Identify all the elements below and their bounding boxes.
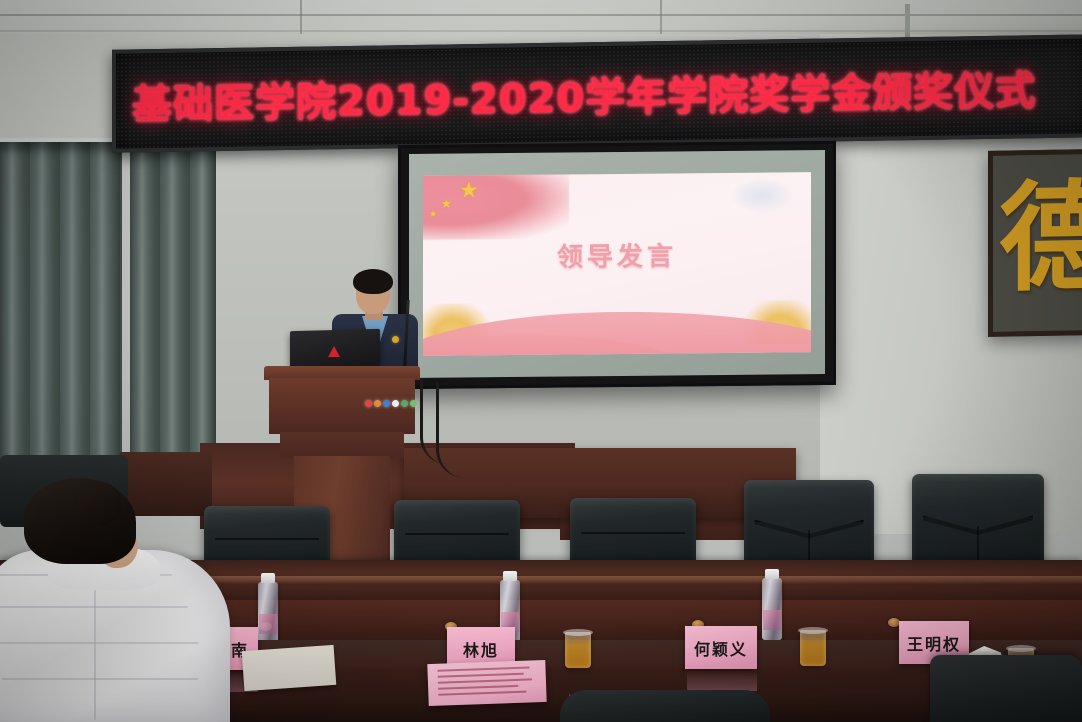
tea-glass-1 (565, 632, 591, 668)
projection-screen: ★ ★ ★ 领导发言 (398, 141, 836, 389)
bottle-label (763, 610, 781, 630)
chair-3 (570, 498, 696, 564)
calligraphy-plaque: 德 (988, 149, 1082, 337)
podium-midsection (280, 432, 404, 458)
led-banner: 基础医学院2019-2020学年学院奖学金颁奖仪式 (112, 34, 1082, 152)
glass-rim (1006, 645, 1036, 652)
foreground-person (0, 478, 230, 722)
bottle-cap (503, 571, 517, 581)
tea-glass-2 (800, 630, 826, 666)
foreground-chair-right (930, 655, 1082, 722)
bottle-cap (765, 569, 779, 579)
water-bottle-1 (258, 582, 278, 644)
placard-reflection (687, 669, 757, 691)
presentation-slide: ★ ★ ★ 领导发言 (423, 172, 811, 356)
podium-button-blue[interactable] (383, 400, 390, 407)
water-bottle-3 (762, 578, 782, 640)
slide-title: 领导发言 (423, 235, 811, 276)
bottle-label (259, 614, 277, 634)
star-icon: ★ (429, 210, 437, 219)
glass-rim (798, 627, 828, 634)
podium-button-orange[interactable] (374, 400, 381, 407)
placard-name: 何颖义 (694, 636, 748, 660)
slide-swirl-decor (731, 178, 793, 213)
name-placard-3: 何颖义 (685, 626, 757, 669)
placard-name: 王明权 (907, 631, 961, 655)
person-hair-bun (78, 482, 122, 526)
star-icon: ★ (441, 198, 452, 210)
curtain-left (0, 142, 122, 504)
glass-rim (563, 629, 593, 636)
white-notepad (242, 645, 337, 691)
person-hair (24, 478, 136, 564)
podium-button-green-2[interactable] (410, 400, 417, 407)
foreground-chair-middle (560, 690, 770, 722)
speaker-hair (353, 269, 393, 294)
chair-2 (394, 500, 520, 564)
screenshot-root: 基础医学院2019-2020学年学院奖学金颁奖仪式 ★ ★ ★ 领导发言 德 (0, 0, 1082, 722)
laptop-logo-icon (328, 346, 340, 357)
bottle-cap (261, 573, 275, 583)
cable (436, 382, 465, 478)
podium-face (269, 378, 415, 434)
chair-5 (912, 474, 1044, 564)
pink-document (427, 660, 546, 706)
chair-4 (744, 480, 874, 566)
placard-name: 林旭 (463, 637, 499, 661)
speaker-lapel-badge (392, 336, 399, 343)
podium-button-green[interactable] (401, 400, 408, 407)
podium-button-white[interactable] (392, 400, 399, 407)
podium-button-red[interactable] (365, 400, 372, 407)
plaque-character: 德 (999, 162, 1082, 326)
projection-screen-surface: ★ ★ ★ 领导发言 (409, 150, 825, 378)
podium-control-buttons[interactable] (365, 400, 417, 407)
star-icon: ★ (459, 179, 479, 201)
